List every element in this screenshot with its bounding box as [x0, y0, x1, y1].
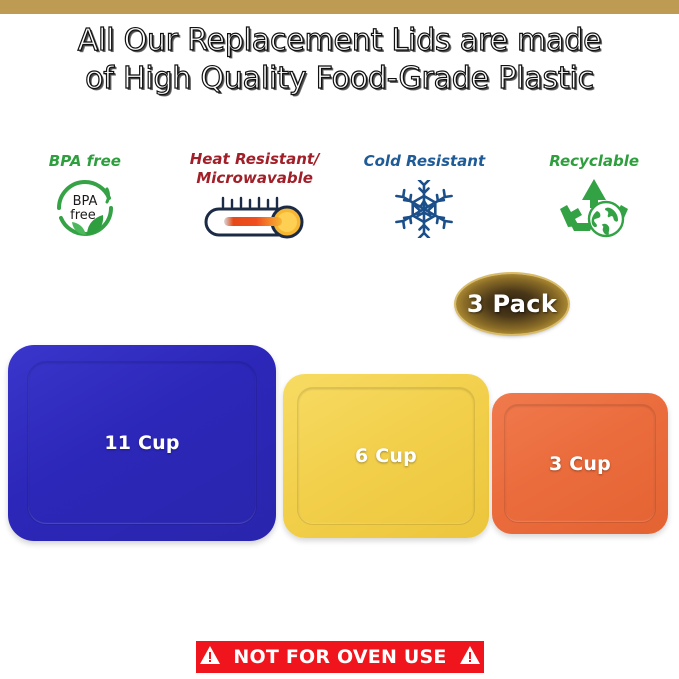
svg-text:BPA: BPA — [72, 194, 97, 209]
feature-cold-resistant: Cold Resistant — [340, 152, 510, 262]
lid-6-cup: 6 Cup — [283, 374, 489, 538]
page-title: All Our Replacement Lids are made of Hig… — [0, 22, 679, 98]
lid-6-cup-label: 6 Cup — [355, 445, 417, 467]
feature-recyclable: Recyclable — [509, 152, 679, 262]
snowflake-icon — [393, 180, 455, 243]
feature-heat-resistant-label: Heat Resistant/ Microwavable — [190, 150, 320, 188]
feature-recyclable-label: Recyclable — [549, 152, 639, 171]
lid-3-cup-label: 3 Cup — [549, 453, 611, 475]
svg-text:free: free — [70, 208, 96, 223]
lid-11-cup-label: 11 Cup — [104, 432, 179, 454]
warning-triangle-icon-left — [199, 645, 221, 670]
bpa-free-icon: BPA free — [49, 177, 121, 244]
warning-triangle-icon-right — [459, 645, 481, 670]
top-accent-bar — [0, 0, 679, 14]
recycle-globe-icon — [556, 175, 632, 244]
three-pack-badge: 3 Pack — [456, 274, 568, 334]
lid-11-cup: 11 Cup — [8, 345, 276, 541]
feature-badges-row: BPA free BPA free Heat Resistant/ Microw… — [0, 152, 679, 262]
feature-bpa-free-label: BPA free — [49, 152, 121, 171]
feature-bpa-free: BPA free BPA free — [0, 152, 170, 262]
feature-heat-resistant: Heat Resistant/ Microwavable — [170, 150, 340, 262]
three-pack-badge-label: 3 Pack — [467, 290, 557, 318]
oven-warning-label: NOT FOR OVEN USE — [233, 646, 446, 668]
lid-3-cup: 3 Cup — [492, 393, 668, 534]
feature-cold-resistant-label: Cold Resistant — [364, 152, 486, 171]
thermometer-icon — [199, 194, 311, 245]
oven-warning-banner: NOT FOR OVEN USE — [196, 641, 484, 673]
